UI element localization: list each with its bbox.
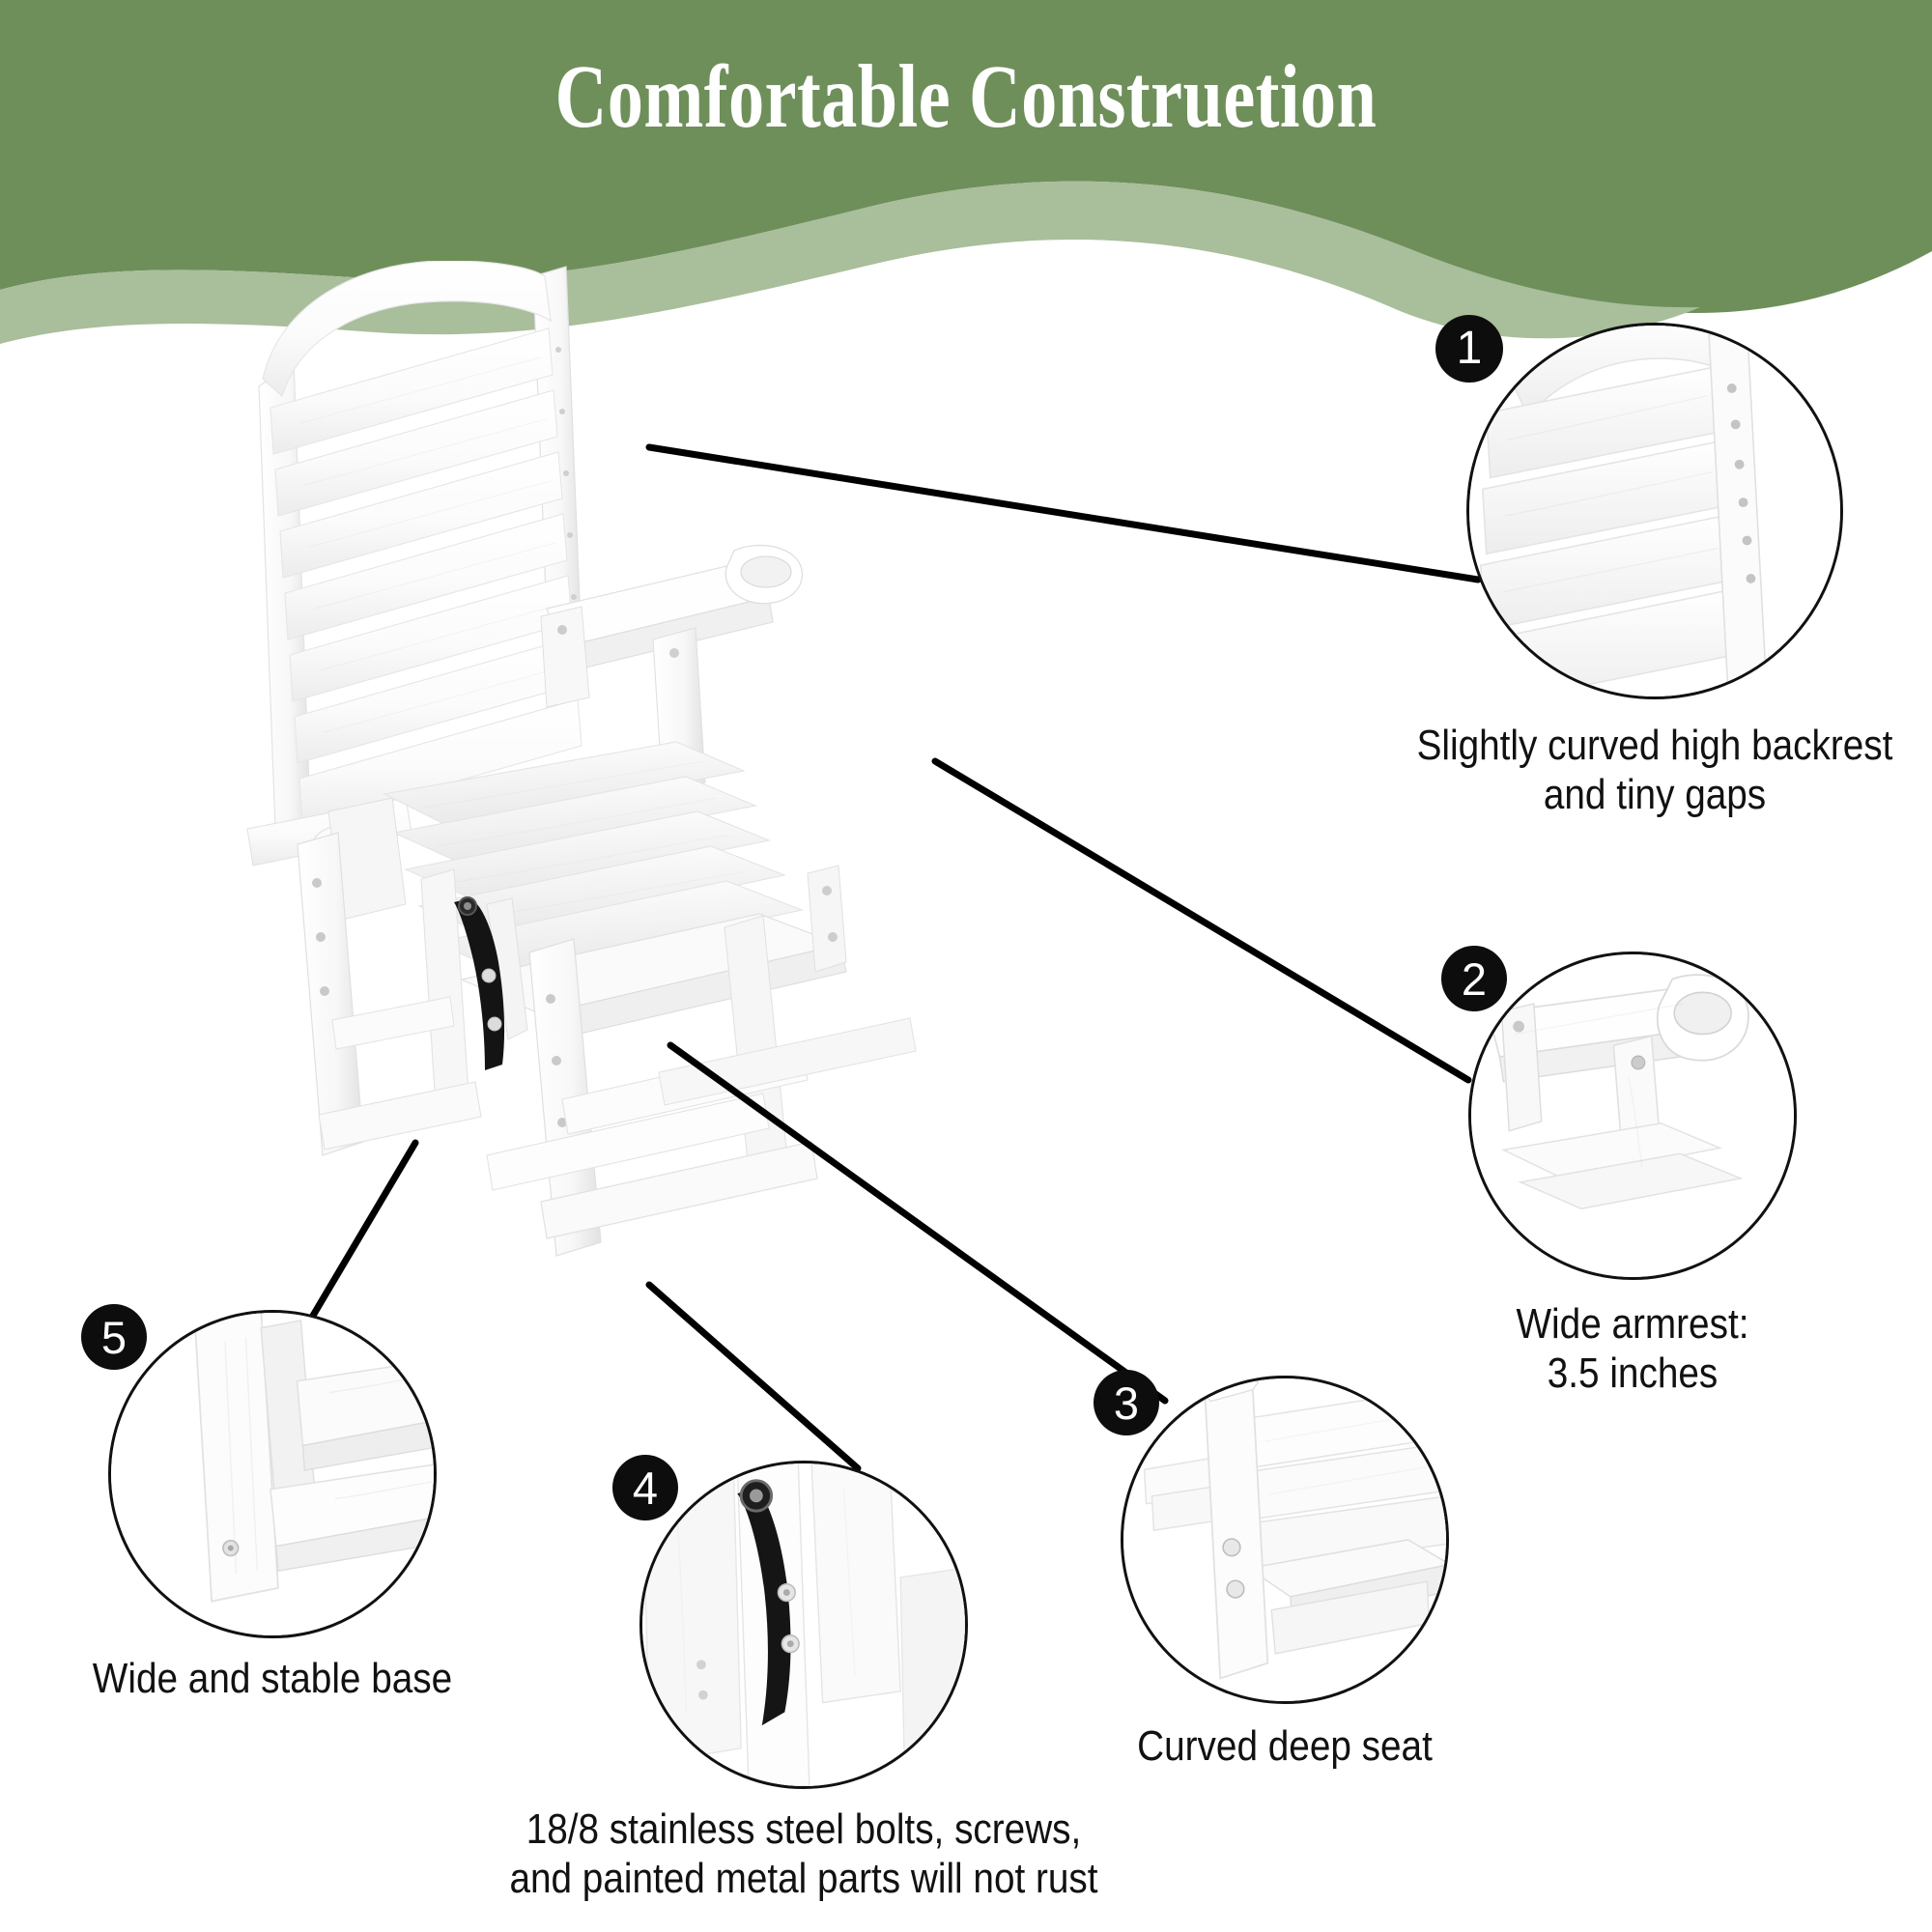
- product-photo-glider-chair: [222, 261, 1014, 1381]
- callout-3-caption: Curved deep seat: [1005, 1721, 1566, 1771]
- callout-5-badge: 5: [81, 1304, 147, 1370]
- callout-5-detail-circle: [108, 1310, 437, 1638]
- callout-1-detail-circle: [1466, 323, 1843, 699]
- callout-1-badge: 1: [1435, 315, 1503, 383]
- callout-5-caption: Wide and stable base: [9, 1654, 536, 1703]
- callout-2-badge: 2: [1441, 946, 1507, 1011]
- callout-4-detail-circle: [639, 1461, 968, 1789]
- callout-2-caption: Wide armrest: 3.5 inches: [1352, 1299, 1914, 1398]
- infographic-stage: 1 Slightly curved high backrest and tiny…: [0, 0, 1932, 1932]
- callout-3-badge: 3: [1094, 1370, 1159, 1435]
- callout-3-detail-circle: [1121, 1376, 1449, 1704]
- callout-4-badge: 4: [612, 1455, 678, 1520]
- callout-1-caption: Slightly curved high backrest and tiny g…: [1357, 721, 1932, 819]
- callout-4-caption: 18/8 stainless steel bolts, screws, and …: [396, 1804, 1212, 1903]
- callout-2-detail-circle: [1468, 952, 1797, 1280]
